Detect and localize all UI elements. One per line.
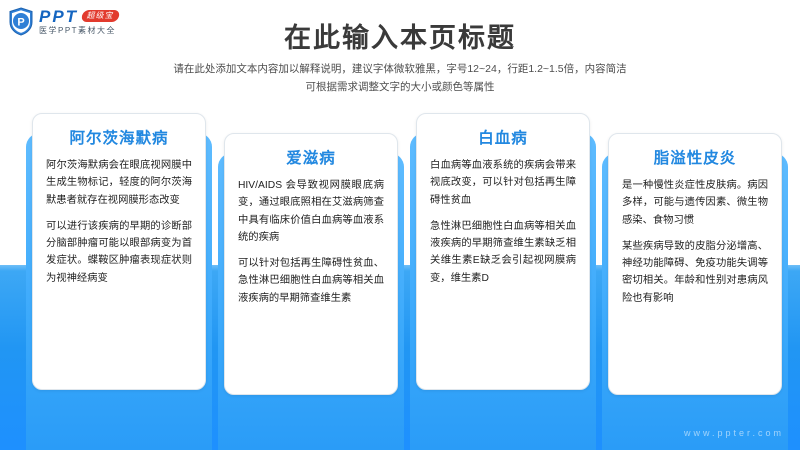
card-title-3: 白血病 [430, 126, 576, 148]
card-column-2: 爱滋病 HIV/AIDS 会导致视网膜眼底病变，通过眼底照相在艾滋病筛查中具有临… [218, 0, 404, 450]
card-paragraph-3-2: 急性淋巴细胞性白血病等相关血液疾病的早期筛查维生素缺乏相关维生素E缺乏会引起视网… [430, 218, 576, 287]
card-paragraph-1-1: 阿尔茨海默病会在眼底视网膜中生成生物标记，轻度的阿尔茨海默患者就存在视网膜形态改… [46, 157, 192, 209]
card-paragraph-2-1: HIV/AIDS 会导致视网膜眼底病变，通过眼底照相在艾滋病筛查中具有临床价值白… [238, 177, 384, 246]
card-column-4: 脂溢性皮炎 是一种慢性炎症性皮肤病。病因多样，可能与遗传因素、微生物感染、食物习… [602, 0, 788, 450]
card-grid: 阿尔茨海默病 阿尔茨海默病会在眼底视网膜中生成生物标记，轻度的阿尔茨海默患者就存… [0, 0, 800, 450]
card-title-4: 脂溢性皮炎 [622, 146, 768, 168]
card-alzheimer[interactable]: 阿尔茨海默病 阿尔茨海默病会在眼底视网膜中生成生物标记，轻度的阿尔茨海默患者就存… [32, 113, 206, 390]
card-paragraph-4-2: 某些疾病导致的皮脂分泌增高、神经功能障碍、免疫功能失调等密切相关。年龄和性别对患… [622, 238, 768, 307]
card-paragraph-4-1: 是一种慢性炎症性皮肤病。病因多样，可能与遗传因素、微生物感染、食物习惯 [622, 177, 768, 229]
card-leukemia[interactable]: 白血病 白血病等血液系统的疾病会带来视底改变，可以针对包括再生障碍性贫血 急性淋… [416, 113, 590, 390]
card-column-1: 阿尔茨海默病 阿尔茨海默病会在眼底视网膜中生成生物标记，轻度的阿尔茨海默患者就存… [26, 0, 212, 450]
slide-canvas: P PPT 超级宝 医学PPT素材大全 在此输入本页标题 请在此处添加文本内容加… [0, 0, 800, 450]
card-paragraph-1-2: 可以进行该疾病的早期的诊断部分脑部肿瘤可能以眼部病变为首发症状。蝶鞍区肿瘤表现症… [46, 218, 192, 287]
card-title-2: 爱滋病 [238, 146, 384, 168]
card-aids[interactable]: 爱滋病 HIV/AIDS 会导致视网膜眼底病变，通过眼底照相在艾滋病筛查中具有临… [224, 133, 398, 395]
card-paragraph-3-1: 白血病等血液系统的疾病会带来视底改变，可以针对包括再生障碍性贫血 [430, 157, 576, 209]
watermark: www.ppter.com [684, 428, 784, 438]
card-title-1: 阿尔茨海默病 [46, 126, 192, 148]
card-seborrheic-dermatitis[interactable]: 脂溢性皮炎 是一种慢性炎症性皮肤病。病因多样，可能与遗传因素、微生物感染、食物习… [608, 133, 782, 395]
card-paragraph-2-2: 可以针对包括再生障碍性贫血、急性淋巴细胞性白血病等相关血液疾病的早期筛查维生素 [238, 255, 384, 307]
card-column-3: 白血病 白血病等血液系统的疾病会带来视底改变，可以针对包括再生障碍性贫血 急性淋… [410, 0, 596, 450]
